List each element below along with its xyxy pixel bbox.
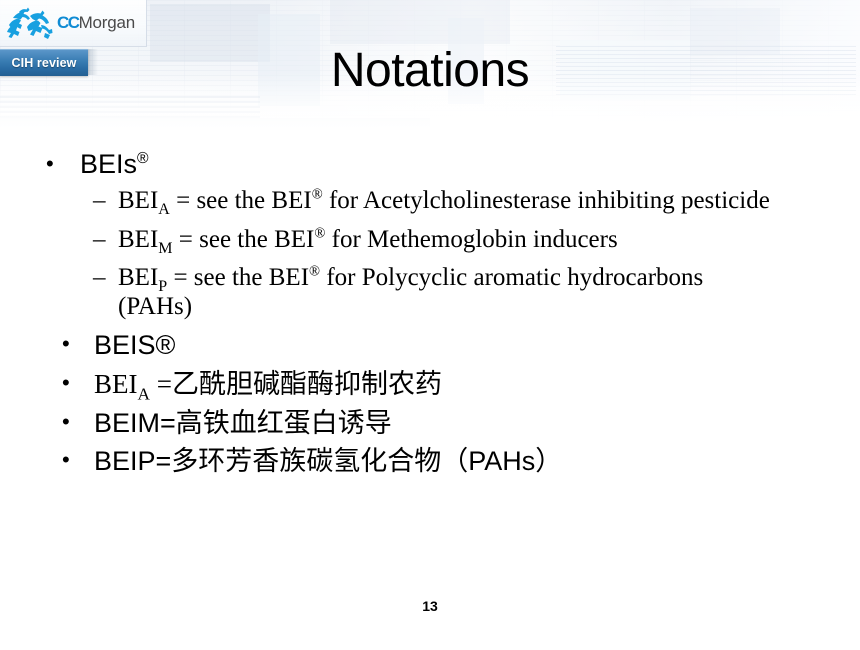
dash-marker-icon: – bbox=[93, 264, 118, 293]
bullet-item: •BEIA =乙酰胆碱酯酶抑制农药 bbox=[0, 370, 860, 400]
registered-mark: ® bbox=[137, 150, 149, 167]
logo: CCMorgan bbox=[0, 0, 147, 47]
subscript: M bbox=[158, 240, 172, 257]
bullet-marker-icon: • bbox=[62, 370, 94, 397]
bullet-marker-icon: • bbox=[62, 409, 94, 436]
latin-text: = see the BEI bbox=[167, 264, 309, 291]
subscript: A bbox=[138, 384, 150, 403]
latin-text: = see the BEI bbox=[170, 187, 312, 214]
bullet-item: •BEIS® bbox=[0, 331, 860, 361]
bullet-text: BEIM = see the BEI® for Methemoglobin in… bbox=[118, 226, 618, 255]
bullet-marker-icon: • bbox=[62, 447, 94, 474]
cjk-text: 多环芳香族碳氢化合物（PAHs） bbox=[171, 446, 562, 476]
bullet-marker-icon: • bbox=[62, 331, 94, 358]
logo-cc-text: CC bbox=[57, 13, 79, 32]
cjk-text: 高铁血红蛋白诱导 bbox=[176, 408, 392, 438]
morgan-emblem-icon bbox=[4, 3, 56, 43]
cjk-text: 乙酰胆碱酯酶抑制农药 bbox=[172, 369, 442, 399]
dash-marker-icon: – bbox=[93, 187, 118, 216]
latin-text: BEIP= bbox=[94, 446, 171, 476]
latin-text: = see the BEI bbox=[173, 226, 315, 253]
bullet-item: •BEIs® bbox=[0, 150, 860, 179]
bullet-text: BEIP = see the BEI® for Polycyclic aroma… bbox=[118, 264, 778, 321]
latin-text: = bbox=[150, 369, 172, 399]
bullet-item: •BEIP=多环芳香族碳氢化合物（PAHs） bbox=[0, 447, 860, 477]
page-number: 13 bbox=[0, 598, 860, 614]
latin-text: BEIS® bbox=[94, 330, 175, 360]
bullet-text: BEIA = see the BEI® for Acetylcholineste… bbox=[118, 187, 770, 216]
latin-text: BEI bbox=[118, 187, 158, 214]
dash-marker-icon: – bbox=[93, 226, 118, 255]
bullet-text: BEIM=高铁血红蛋白诱导 bbox=[94, 409, 392, 439]
bullet-item: •BEIM=高铁血红蛋白诱导 bbox=[0, 409, 860, 439]
logo-morgan-text: Morgan bbox=[79, 13, 135, 32]
slide: CCMorgan CIH review Notations •BEIs®–BEI… bbox=[0, 0, 860, 650]
registered-mark: ® bbox=[312, 187, 323, 203]
latin-text: BEI bbox=[94, 369, 138, 399]
latin-text: BEI bbox=[118, 226, 158, 253]
bullet-item: –BEIA = see the BEI® for Acetylcholinest… bbox=[0, 187, 860, 216]
latin-text: for Methemoglobin inducers bbox=[325, 226, 617, 253]
latin-text: BEI bbox=[118, 264, 158, 291]
latin-text: BEIM= bbox=[94, 408, 176, 438]
bullet-text: BEIP=多环芳香族碳氢化合物（PAHs） bbox=[94, 447, 562, 477]
logo-wordmark: CCMorgan bbox=[57, 13, 135, 33]
slide-title: Notations bbox=[0, 47, 860, 95]
bullet-item: –BEIP = see the BEI® for Polycyclic arom… bbox=[0, 264, 860, 321]
latin-text: BEIs bbox=[80, 149, 137, 179]
subscript: A bbox=[158, 201, 170, 218]
bullet-text: BEIs® bbox=[80, 150, 149, 179]
bullet-text: BEIA =乙酰胆碱酯酶抑制农药 bbox=[94, 370, 442, 400]
registered-mark: ® bbox=[314, 225, 325, 241]
latin-text: for Acetylcholinesterase inhibiting pest… bbox=[323, 187, 770, 214]
bullet-marker-icon: • bbox=[46, 150, 80, 178]
slide-body: •BEIs®–BEIA = see the BEI® for Acetylcho… bbox=[0, 150, 860, 486]
registered-mark: ® bbox=[309, 264, 320, 280]
bullet-item: –BEIM = see the BEI® for Methemoglobin i… bbox=[0, 226, 860, 255]
bullet-text: BEIS® bbox=[94, 331, 175, 361]
